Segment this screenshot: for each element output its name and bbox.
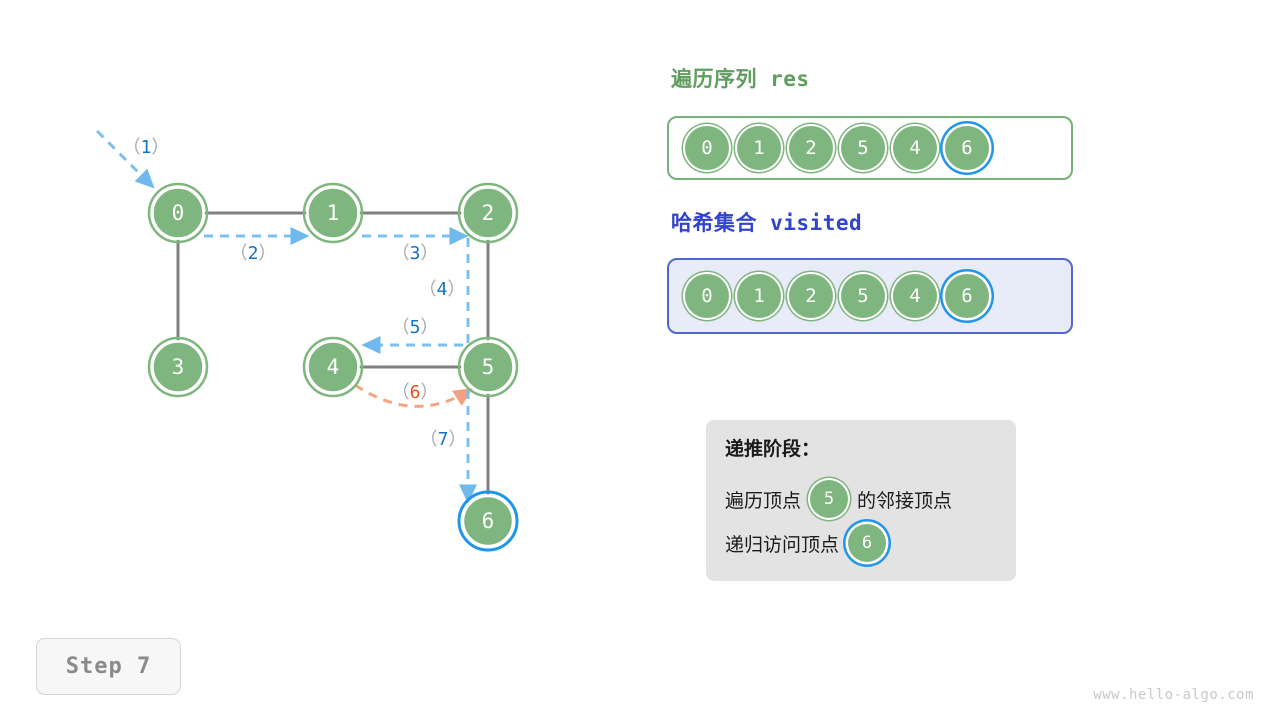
graph-node-label: 0 <box>172 201 185 225</box>
visited-item[interactable]: 0 <box>685 274 729 318</box>
step-label-6: （6） <box>392 382 439 403</box>
graph-node-label: 5 <box>482 355 495 379</box>
visited-title: 哈希集合 visited <box>671 207 862 237</box>
visited-item[interactable]: 1 <box>737 274 781 318</box>
res-container: 0 1 2 5 4 6 <box>667 116 1073 180</box>
visited-container: 0 1 2 5 4 6 <box>667 258 1073 334</box>
graph-diagram: 0 1 2 3 4 <box>0 0 660 620</box>
step-label-3: （3） <box>392 243 439 264</box>
hint-line-2-before: 递归访问顶点 <box>725 530 839 557</box>
step-label-2: （2） <box>230 243 277 264</box>
graph-node-2[interactable]: 2 <box>459 184 517 242</box>
watermark: www.hello-algo.com <box>1093 687 1254 703</box>
visited-item-highlighted[interactable]: 6 <box>945 274 989 318</box>
res-item[interactable]: 0 <box>685 126 729 170</box>
hint-line-1: 遍历顶点 5 的邻接顶点 <box>725 480 1016 518</box>
graph-node-6[interactable]: 6 <box>459 492 517 550</box>
graph-node-label: 1 <box>327 201 340 225</box>
hint-heading: 递推阶段： <box>725 440 1016 459</box>
graph-node-3[interactable]: 3 <box>149 338 207 396</box>
hint-line-2: 递归访问顶点 6 <box>725 524 1016 562</box>
graph-node-5[interactable]: 5 <box>459 338 517 396</box>
graph-node-label: 2 <box>482 201 495 225</box>
res-item[interactable]: 5 <box>841 126 885 170</box>
hint-token-next: 6 <box>848 524 886 562</box>
hint-token-current: 5 <box>810 480 848 518</box>
graph-node-label: 3 <box>172 355 185 379</box>
canvas: 0 1 2 3 4 <box>0 0 1280 720</box>
visited-item[interactable]: 2 <box>789 274 833 318</box>
step-badge: Step 7 <box>36 638 181 695</box>
hint-box: 递推阶段： 遍历顶点 5 的邻接顶点 递归访问顶点 6 <box>706 420 1016 581</box>
graph-node-4[interactable]: 4 <box>304 338 362 396</box>
traversal-arrows <box>97 131 470 500</box>
step-label-7: （7） <box>420 429 467 450</box>
step-label-4: （4） <box>419 279 466 300</box>
graph-node-label: 4 <box>327 355 340 379</box>
step-label-5: （5） <box>392 317 439 338</box>
graph-node-0[interactable]: 0 <box>149 184 207 242</box>
graph-node-label: 6 <box>482 509 495 533</box>
res-item[interactable]: 2 <box>789 126 833 170</box>
res-item[interactable]: 4 <box>893 126 937 170</box>
visited-item[interactable]: 5 <box>841 274 885 318</box>
visited-item[interactable]: 4 <box>893 274 937 318</box>
graph-node-1[interactable]: 1 <box>304 184 362 242</box>
res-item[interactable]: 1 <box>737 126 781 170</box>
hint-line-1-after: 的邻接顶点 <box>857 486 952 513</box>
graph-nodes: 0 1 2 3 4 <box>149 184 517 550</box>
res-item-highlighted[interactable]: 6 <box>945 126 989 170</box>
hint-line-1-before: 遍历顶点 <box>725 486 801 513</box>
step-label-1: （1） <box>123 137 170 158</box>
res-title: 遍历序列 res <box>671 63 810 93</box>
